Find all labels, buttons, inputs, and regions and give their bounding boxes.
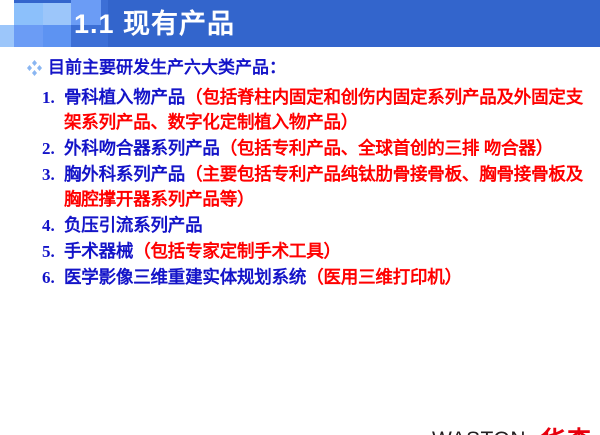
decor-square-r2c2 (14, 25, 43, 47)
list-item: 6. 医学影像三维重建实体规划系统（医用三维打印机） (42, 265, 594, 290)
list-item: 2. 外科吻合器系列产品（包括专利产品、全球首创的三排 吻合器） (42, 136, 594, 161)
logo-brand-text: WASTON (432, 429, 526, 435)
list-item-body: 胸外科系列产品（主要包括专利产品纯钛肋骨接骨板、胸骨接骨板及胸腔撑开器系列产品等… (64, 162, 594, 212)
list-item-body: 骨科植入物产品（包括脊柱内固定和创伤内固定系列产品及外固定支架系列产品、数字化定… (64, 85, 594, 135)
list-item-marker: 5. (42, 239, 64, 264)
product-list: 1. 骨科植入物产品（包括脊柱内固定和创伤内固定系列产品及外固定支架系列产品、数… (42, 85, 594, 291)
list-item-marker: 1. (42, 85, 64, 110)
list-item: 5. 手术器械（包括专家定制手术工具） (42, 239, 594, 264)
slide-body: 目前主要研发生产六大类产品： 1. 骨科植入物产品（包括脊柱内固定和创伤内固定系… (0, 47, 600, 435)
decor-square-r2c1 (0, 25, 14, 47)
decor-square-r1c3 (43, 3, 71, 25)
list-item-body: 医学影像三维重建实体规划系统（医用三维打印机） (64, 265, 594, 290)
slide-root: 1.1 现有产品 目前主要研发生产六大类产品： 1. (0, 0, 600, 435)
list-item-marker: 2. (42, 136, 64, 161)
list-item-segment: 骨科植入物产品 (64, 87, 185, 107)
header-bar: 1.1 现有产品 (0, 0, 600, 47)
diamond-cluster-bullet-icon (26, 57, 43, 78)
company-logo: WASTON MEDICAL 华森 Company name (432, 429, 592, 435)
list-item-body: 手术器械（包括专家定制手术工具） (64, 239, 594, 264)
list-item: 4. 负压引流系列产品 (42, 213, 594, 238)
list-item-marker: 3. (42, 162, 64, 187)
list-item-body: 外科吻合器系列产品（包括专利产品、全球首创的三排 吻合器） (64, 136, 594, 161)
list-item-segment: 手术器械 (64, 241, 133, 261)
decor-square-r2c3 (43, 25, 71, 47)
list-item-marker: 6. (42, 265, 64, 290)
list-item-marker: 4. (42, 213, 64, 238)
page-title: 1.1 现有产品 (74, 3, 235, 47)
list-item-segment: 胸外科系列产品 (64, 164, 185, 184)
list-item: 1. 骨科植入物产品（包括脊柱内固定和创伤内固定系列产品及外固定支架系列产品、数… (42, 85, 594, 135)
lead-bullet-row: 目前主要研发生产六大类产品： (26, 57, 286, 78)
list-item-segment: 负压引流系列产品 (64, 215, 202, 235)
lead-text: 目前主要研发生产六大类产品： (48, 57, 286, 78)
list-item-segment: （包括专家定制手术工具） (133, 241, 341, 261)
list-item-body: 负压引流系列产品 (64, 213, 594, 238)
list-item-segment: 外科吻合器系列产品 (64, 138, 220, 158)
list-item-segment: （包括专利产品、全球首创的三排 吻合器） (220, 138, 553, 158)
list-item-segment: （医用三维打印机） (306, 267, 462, 287)
logo-brand-cn-text: 华森 (540, 427, 592, 435)
decor-square-r1c2 (14, 3, 43, 25)
list-item-segment: 医学影像三维重建实体规划系统 (64, 267, 306, 287)
decor-square-r1c1 (0, 0, 14, 25)
list-item: 3. 胸外科系列产品（主要包括专利产品纯钛肋骨接骨板、胸骨接骨板及胸腔撑开器系列… (42, 162, 594, 212)
